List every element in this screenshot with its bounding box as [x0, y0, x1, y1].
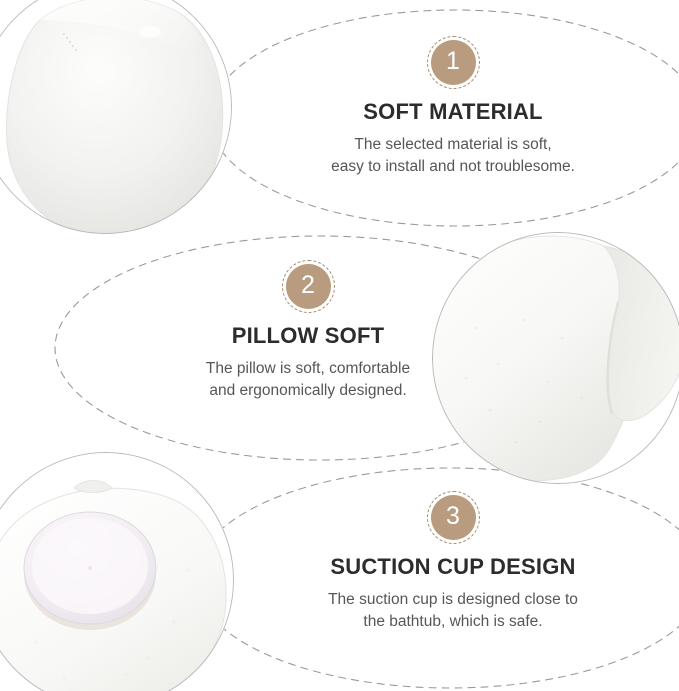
- feature-block-2: 2 PILLOW SOFT The pillow is soft, comfor…: [108, 264, 508, 402]
- feature-number-1: 1: [446, 49, 460, 74]
- feature-title-3: SUCTION CUP DESIGN: [243, 554, 663, 580]
- feature-title-2: PILLOW SOFT: [108, 323, 508, 349]
- infographic-canvas: 1 SOFT MATERIAL The selected material is…: [0, 0, 679, 691]
- feature-description-2-line-1: The pillow is soft, comfortable: [108, 358, 508, 380]
- feature-description-1-line-2: easy to install and not troublesome.: [253, 156, 653, 178]
- feature-title-1: SOFT MATERIAL: [253, 99, 653, 125]
- feature-block-1: 1 SOFT MATERIAL The selected material is…: [253, 40, 653, 178]
- feature-image-soft-material: [0, 0, 232, 234]
- feature-image-suction-cup: [0, 452, 234, 691]
- feature-number-3: 3: [446, 504, 460, 529]
- feature-description-1: The selected material is soft, easy to i…: [253, 134, 653, 178]
- feature-number-2: 2: [301, 273, 315, 298]
- feature-block-3: 3 SUCTION CUP DESIGN The suction cup is …: [243, 495, 663, 633]
- feature-description-2: The pillow is soft, comfortable and ergo…: [108, 358, 508, 402]
- feature-badge-3: 3: [431, 495, 476, 540]
- feature-description-3: The suction cup is designed close to the…: [243, 589, 663, 633]
- feature-description-3-line-1: The suction cup is designed close to: [243, 589, 663, 611]
- feature-badge-1: 1: [431, 40, 476, 85]
- feature-description-3-line-2: the bathtub, which is safe.: [243, 611, 663, 633]
- feature-description-2-line-2: and ergonomically designed.: [108, 380, 508, 402]
- feature-description-1-line-1: The selected material is soft,: [253, 134, 653, 156]
- feature-badge-2: 2: [286, 264, 331, 309]
